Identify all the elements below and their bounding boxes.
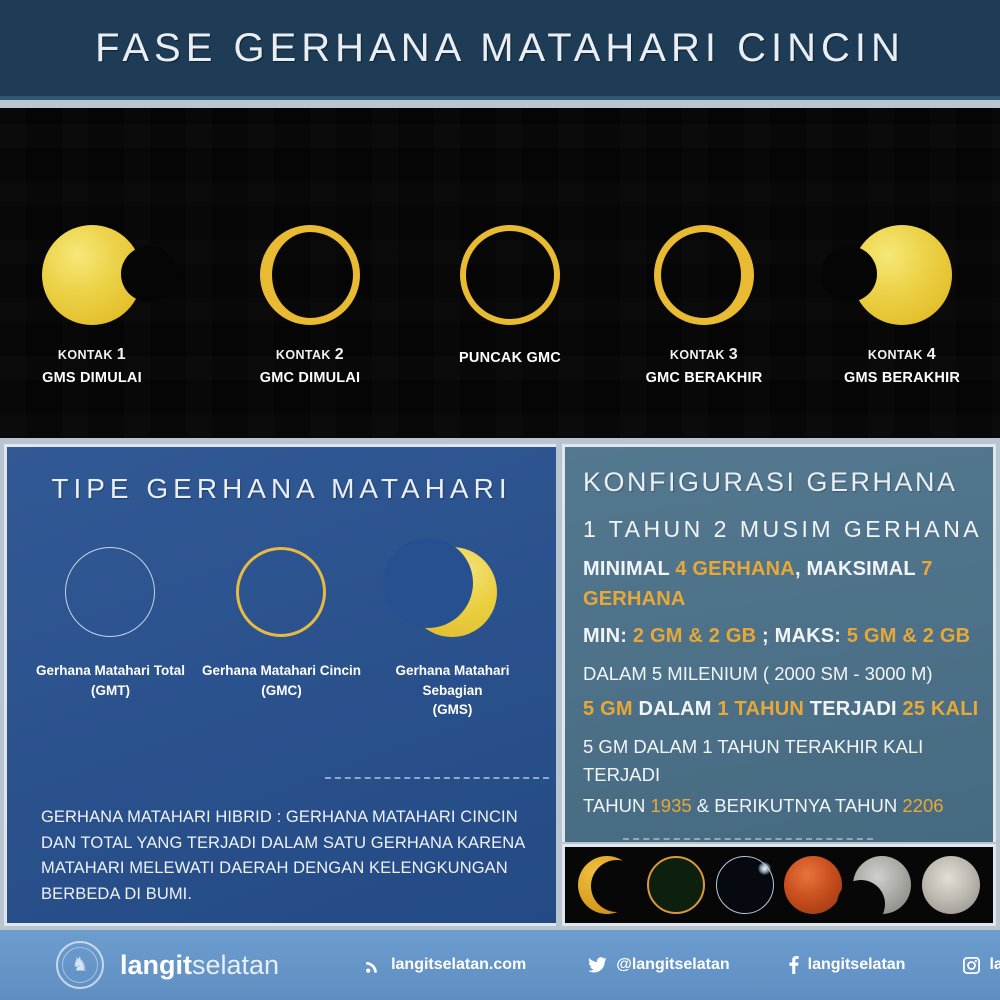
type-item-gmt: Gerhana Matahari Total (GMT) [27,547,195,700]
rss-icon [365,957,382,974]
phase-item-4: KONTAK 3 GMC BERAKHIR [614,220,794,388]
social-label: @langitselatan [616,956,729,974]
hybrid-eclipse-note: GERHANA MATAHARI HIBRID : GERHANA MATAHA… [41,805,528,907]
brand-light-text: selatan [192,950,279,980]
left-panel-title: TIPE GERHANA MATAHARI [7,473,556,505]
eclipse-photo-strip [562,844,996,926]
photo-gerhana-bulan-total-merah [784,856,842,914]
instagram-icon [963,957,980,974]
phase-caption-2: GMS BERAKHIR [812,368,992,388]
phase-art-puncak-gmc [455,220,565,330]
phase-kontak-label: KONTAK [670,348,725,362]
min-text: MIN: [583,625,633,647]
eclipse-phases-band: KONTAK 1 GMS DIMULAI KONTAK 2 GMC DIMULA… [0,108,1000,438]
phase-caption-2: GMC BERAKHIR [614,368,794,388]
header-bar: FASE GERHANA MATAHARI CINCIN [0,0,1000,100]
config-line-minmax: MINIMAL 4 GERHANA, MAKSIMAL 7 GERHANA [583,554,993,614]
photo-gerhana-matahari-total-diamond-ring [716,856,774,914]
social-label: langitselatanmedia [989,956,1000,974]
phase-item-3: PUNCAK GMC [420,220,600,368]
phase-art-gmc-dimulai [255,220,365,330]
tahun-1935: 1935 [651,795,692,816]
infographic-page: FASE GERHANA MATAHARI CINCIN KONTAK 1 GM… [0,0,1000,1000]
photo-gerhana-matahari-sebagian-sabit [578,856,636,914]
phase-caption-2: PUNCAK GMC [420,348,600,368]
phase-caption-2: GMC DIMULAI [220,368,400,388]
dalam-text: DALAM [633,698,718,720]
social-link-facebook[interactable]: langitselatan [788,956,906,974]
social-link-website[interactable]: langitselatan.com [365,956,526,974]
phase-kontak-number: 1 [117,346,126,363]
min-value: 2 GM & 2 GB [633,625,756,647]
photo-gerhana-bulan-sebagian [853,856,911,914]
photo-bulan-purnama [922,856,980,914]
eclipse-types-row: Gerhana Matahari Total (GMT) Gerhana Mat… [7,547,556,720]
phase-art-gmc-berakhir [649,220,759,330]
brand-wordmark: langitselatan [120,950,279,981]
social-label: langitselatan [808,956,906,974]
total-eclipse-icon [65,547,157,639]
config-line-terakhir-b: TAHUN 1935 & BERIKUTNYA TAHUN 2206 [583,792,993,820]
page-title: FASE GERHANA MATAHARI CINCIN [95,26,905,71]
partial-eclipse-crescent-icon [407,547,499,639]
type-label-abbr: (GMC) [198,681,366,701]
social-label: langitselatan.com [391,956,526,974]
kali-value: 25 KALI [903,698,979,720]
phase-caption-2: GMS DIMULAI [2,368,182,388]
type-label-abbr: (GMS) [369,700,537,720]
left-panel-divider [325,777,549,779]
maks-value: 5 GM & 2 GB [847,625,970,647]
type-label-name: Gerhana Matahari Sebagian [369,661,537,700]
config-line-5gm: 5 GM DALAM 1 TAHUN TERJADI 25 KALI [583,694,993,724]
panel-tipe-gerhana: TIPE GERHANA MATAHARI Gerhana Matahari T… [4,444,556,926]
maksimal-text: , MAKSIMAL [795,558,921,580]
phase-kontak-number: 4 [927,346,936,363]
social-link-twitter[interactable]: @langitselatan [588,956,729,974]
brand-bold-text: langit [120,950,192,980]
phase-kontak-number: 3 [729,346,738,363]
langitselatan-logo-icon: ♞ [56,941,104,989]
config-line-min-maks: MIN: 2 GM & 2 GB ; MAKS: 5 GM & 2 GB [583,621,993,651]
gm-count: 5 GM [583,698,633,720]
config-line-terakhir-a: 5 GM DALAM 1 TAHUN TERAKHIR KALI TERJADI [583,733,993,789]
minimal-text: MINIMAL [583,558,675,580]
tahun-label: TAHUN [583,795,651,816]
config-headline: 1 TAHUN 2 MUSIM GERHANA [583,512,993,547]
phase-kontak-label: KONTAK [868,348,923,362]
phase-caption-1: KONTAK 1 [2,344,182,366]
right-panel-title: KONFIGURASI GERHANA [583,467,993,498]
annular-eclipse-icon [236,547,328,639]
phase-art-gms-berakhir [847,220,957,330]
right-panel-divider [623,838,873,840]
berikutnya-label: & BERIKUTNYA TAHUN [692,795,903,816]
type-label-name: Gerhana Matahari Total [27,661,195,681]
tahun-2206: 2206 [902,795,943,816]
phase-item-1: KONTAK 1 GMS DIMULAI [2,220,182,388]
minimal-value: 4 GERHANA [675,558,795,580]
phase-item-2: KONTAK 2 GMC DIMULAI [220,220,400,388]
type-label-name: Gerhana Matahari Cincin [198,661,366,681]
type-label-abbr: (GMT) [27,681,195,701]
twitter-icon [588,957,607,973]
horse-glyph-icon: ♞ [71,956,88,975]
tahun-span: 1 TAHUN [717,698,804,720]
phase-kontak-label: KONTAK [276,348,331,362]
facebook-icon [788,956,799,974]
maks-text: ; MAKS: [756,625,847,647]
type-item-gms: Gerhana Matahari Sebagian (GMS) [369,547,537,720]
footer-bar: ♞ langitselatan langitselatan.com @langi… [0,930,1000,1000]
phase-caption-1: KONTAK 2 [220,344,400,366]
config-line-milenium: DALAM 5 MILENIUM ( 2000 SM - 3000 M) [583,660,993,688]
phase-caption-1: KONTAK 3 [614,344,794,366]
photo-gerhana-matahari-cincin-gelap [647,856,705,914]
social-link-instagram[interactable]: langitselatanmedia [963,956,1000,974]
terjadi-text: TERJADI [804,698,902,720]
type-item-gmc: Gerhana Matahari Cincin (GMC) [198,547,366,700]
phase-caption-1: KONTAK 4 [812,344,992,366]
phase-kontak-label: KONTAK [58,348,113,362]
phase-item-5: KONTAK 4 GMS BERAKHIR [812,220,992,388]
phase-kontak-number: 2 [335,346,344,363]
panel-konfigurasi-gerhana: KONFIGURASI GERHANA 1 TAHUN 2 MUSIM GERH… [562,444,996,842]
phase-art-gms-dimulai [37,220,147,330]
